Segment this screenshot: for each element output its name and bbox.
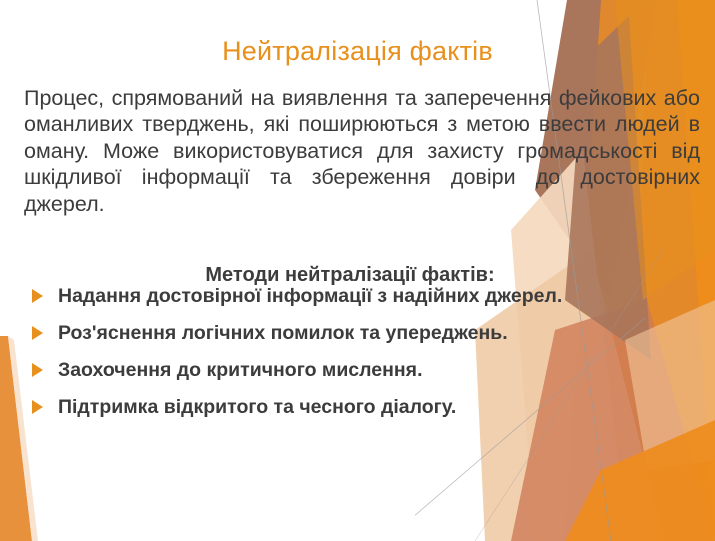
list-item: Заохочення до критичного мислення.	[30, 358, 670, 382]
list-item-label: Заохочення до критичного мислення.	[58, 359, 422, 381]
triangle-bullet-icon	[32, 363, 43, 377]
list-item-label: Надання достовірної інформації з надійни…	[58, 285, 562, 307]
triangle-bullet-icon	[32, 326, 43, 340]
list-item: Надання достовірної інформації з надійни…	[30, 284, 670, 308]
page-title: Нейтралізація фактів	[0, 36, 715, 67]
list-item-label: Роз'яснення логічних помилок та упередже…	[58, 322, 508, 344]
list-item-label: Підтримка відкритого та чесного діалогу.	[58, 396, 456, 418]
body-paragraph: Процес, спрямований на виявлення та запе…	[24, 85, 700, 218]
slide-content: Нейтралізація фактів Процес, спрямований…	[0, 0, 715, 541]
list-item: Роз'яснення логічних помилок та упередже…	[30, 321, 670, 345]
methods-bullet-list: Надання достовірної інформації з надійни…	[30, 284, 670, 419]
presentation-slide: Нейтралізація фактів Процес, спрямований…	[0, 0, 715, 541]
list-item: Підтримка відкритого та чесного діалогу.	[30, 395, 670, 419]
triangle-bullet-icon	[32, 400, 43, 414]
triangle-bullet-icon	[32, 289, 43, 303]
